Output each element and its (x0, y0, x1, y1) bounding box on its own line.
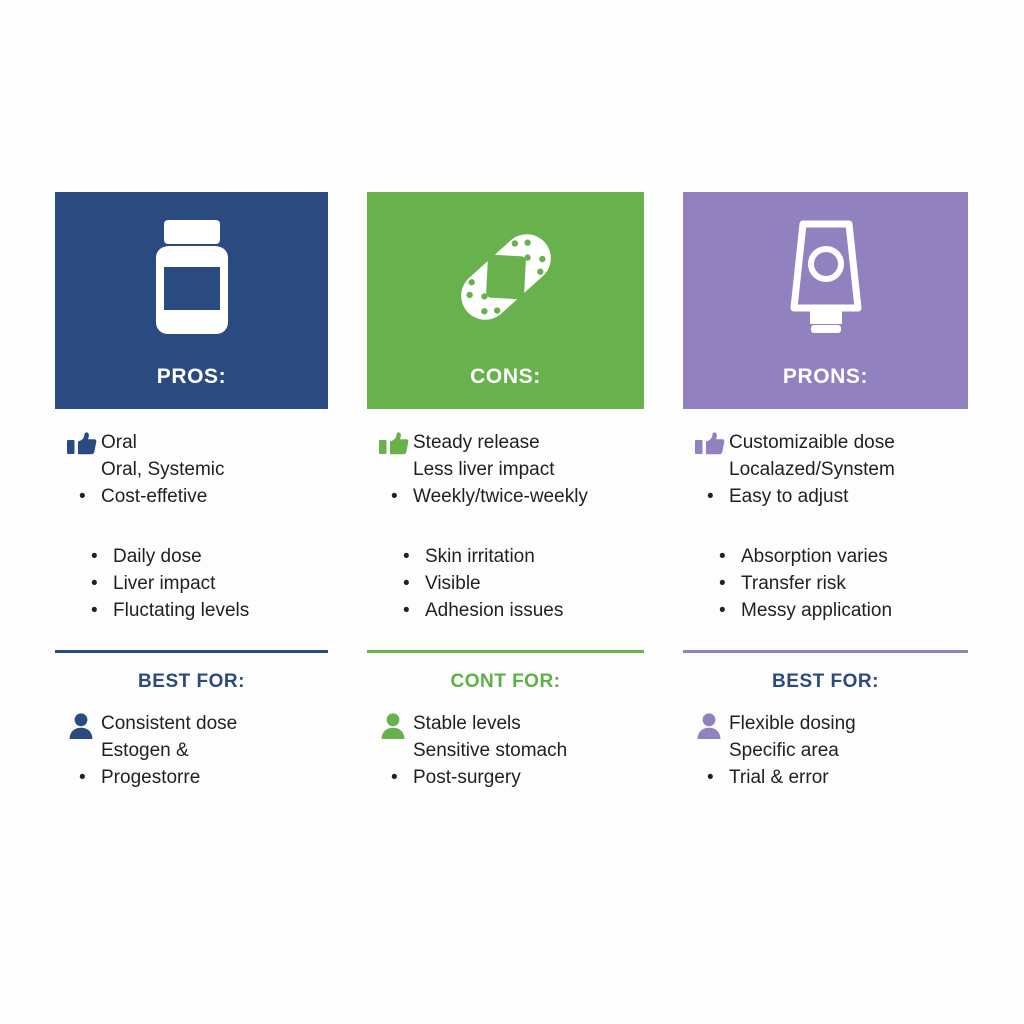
best-for-title: BEST FOR: (55, 671, 328, 693)
list-item: Localazed/Synstem (729, 456, 968, 483)
panel-title: CONS: (367, 365, 644, 389)
list-item: Weekly/twice-weekly (413, 483, 644, 510)
list-item: Adhesion issues (425, 597, 644, 624)
best-for-title: BEST FOR: (683, 671, 968, 693)
pros-lines: Customizaible doseLocalazed/SynstemEasy … (729, 429, 968, 510)
list-item: Post-surgery (413, 764, 644, 791)
list-item: Skin irritation (425, 543, 644, 570)
best-for-lead-row: Stable levelsSensitive stomachPost-surge… (367, 710, 644, 791)
best-for-lines: Stable levelsSensitive stomachPost-surge… (413, 710, 644, 791)
thumbs-up-icon (55, 429, 101, 459)
best-for-list: Consistent doseEstogen &Progestorre (55, 710, 328, 791)
bandage-patch-icon (446, 220, 566, 335)
person-icon (683, 710, 729, 740)
pill-bottle-icon (140, 220, 244, 335)
best-for-title: CONT FOR: (367, 671, 644, 693)
list-item: Fluctating levels (113, 597, 328, 624)
list-item: Stable levels (413, 710, 644, 737)
list-item: Flexible dosing (729, 710, 968, 737)
pros-list: Steady releaseLess liver impactWeekly/tw… (367, 409, 644, 510)
best-for-lead-row: Flexible dosingSpecific areaTrial & erro… (683, 710, 968, 791)
list-item: Oral, Systemic (101, 456, 328, 483)
list-item: Transfer risk (741, 570, 968, 597)
best-for-lines: Flexible dosingSpecific areaTrial & erro… (729, 710, 968, 791)
list-item: Progestorre (101, 764, 328, 791)
section-divider (683, 650, 968, 653)
panel-title: PROS: (55, 365, 328, 389)
best-for-lead-row: Consistent doseEstogen &Progestorre (55, 710, 328, 791)
section-divider (55, 650, 328, 653)
person-icon (367, 710, 413, 740)
list-item: Consistent dose (101, 710, 328, 737)
best-for-lines: Consistent doseEstogen &Progestorre (101, 710, 328, 791)
list-item: Easy to adjust (729, 483, 968, 510)
pros-lead-row: Steady releaseLess liver impactWeekly/tw… (367, 429, 644, 510)
panel-title: PRONS: (683, 365, 968, 389)
panel-patch: CONS: (367, 192, 644, 409)
list-item: Visible (425, 570, 644, 597)
cons-list: Daily doseLiver impactFluctating levels (55, 510, 328, 624)
list-item: Oral (101, 429, 328, 456)
pros-lines: OralOral, SystemicCost-effetive (101, 429, 328, 510)
panel-gel: PRONS: (683, 192, 968, 409)
list-item: Trial & error (729, 764, 968, 791)
comparison-column-gel: PRONS:Customizaible doseLocalazed/Synste… (683, 192, 968, 791)
list-item: Daily dose (113, 543, 328, 570)
infographic-board: PROS:OralOral, SystemicCost-effetiveDail… (0, 0, 1024, 1024)
list-item: Customizaible dose (729, 429, 968, 456)
thumbs-up-icon (367, 429, 413, 459)
comparison-columns: PROS:OralOral, SystemicCost-effetiveDail… (55, 192, 968, 791)
list-item: Estogen & (101, 737, 328, 764)
list-item: Absorption varies (741, 543, 968, 570)
list-item: Specific area (729, 737, 968, 764)
list-item: Messy application (741, 597, 968, 624)
list-item: Liver impact (113, 570, 328, 597)
cons-list: Absorption variesTransfer riskMessy appl… (683, 510, 968, 624)
list-item: Cost-effetive (101, 483, 328, 510)
pros-lead-row: OralOral, SystemicCost-effetive (55, 429, 328, 510)
pros-lead-row: Customizaible doseLocalazed/SynstemEasy … (683, 429, 968, 510)
best-for-list: Flexible dosingSpecific areaTrial & erro… (683, 710, 968, 791)
list-item: Sensitive stomach (413, 737, 644, 764)
pros-list: Customizaible doseLocalazed/SynstemEasy … (683, 409, 968, 510)
person-icon (55, 710, 101, 740)
pros-lines: Steady releaseLess liver impactWeekly/tw… (413, 429, 644, 510)
list-item: Less liver impact (413, 456, 644, 483)
pros-list: OralOral, SystemicCost-effetive (55, 409, 328, 510)
cream-tube-icon (778, 220, 874, 335)
panel-oral: PROS: (55, 192, 328, 409)
comparison-column-oral: PROS:OralOral, SystemicCost-effetiveDail… (55, 192, 328, 791)
best-for-list: Stable levelsSensitive stomachPost-surge… (367, 710, 644, 791)
list-item: Steady release (413, 429, 644, 456)
cons-list: Skin irritationVisibleAdhesion issues (367, 510, 644, 624)
comparison-column-patch: CONS:Steady releaseLess liver impactWeek… (367, 192, 644, 791)
section-divider (367, 650, 644, 653)
thumbs-up-icon (683, 429, 729, 459)
